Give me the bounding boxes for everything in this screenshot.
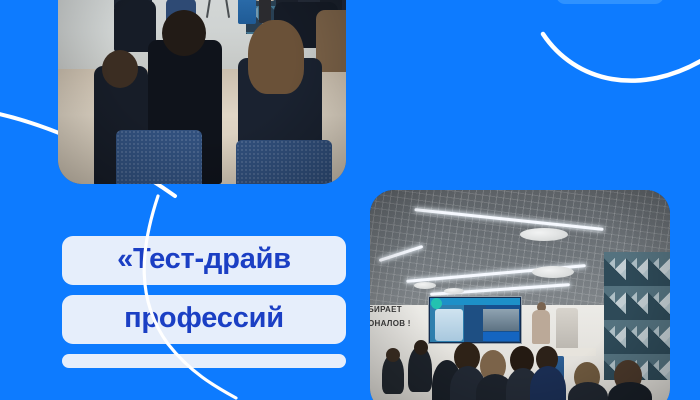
photo-2-vignette [370,190,670,400]
photo-students-seated-circle: как выбрать профессию? [58,0,346,184]
headline-line-3 [62,354,346,368]
photo-lecture-hall-presentation: БИРАЕТ ОНАЛОВ ! [370,190,670,400]
top-right-wave-curve [543,34,700,81]
photo-2-scene: БИРАЕТ ОНАЛОВ ! [370,190,670,400]
poster-canvas: как выбрать профессию? [0,0,700,400]
photo-1-scene: как выбрать профессию? [58,0,346,184]
headline-stack: «Тест-драйв профессий [62,236,346,368]
top-pill-decor [556,0,664,4]
photo-1-vignette [58,0,346,184]
headline-line-1: «Тест-драйв [62,236,346,285]
headline-line-2: профессий [62,295,346,344]
